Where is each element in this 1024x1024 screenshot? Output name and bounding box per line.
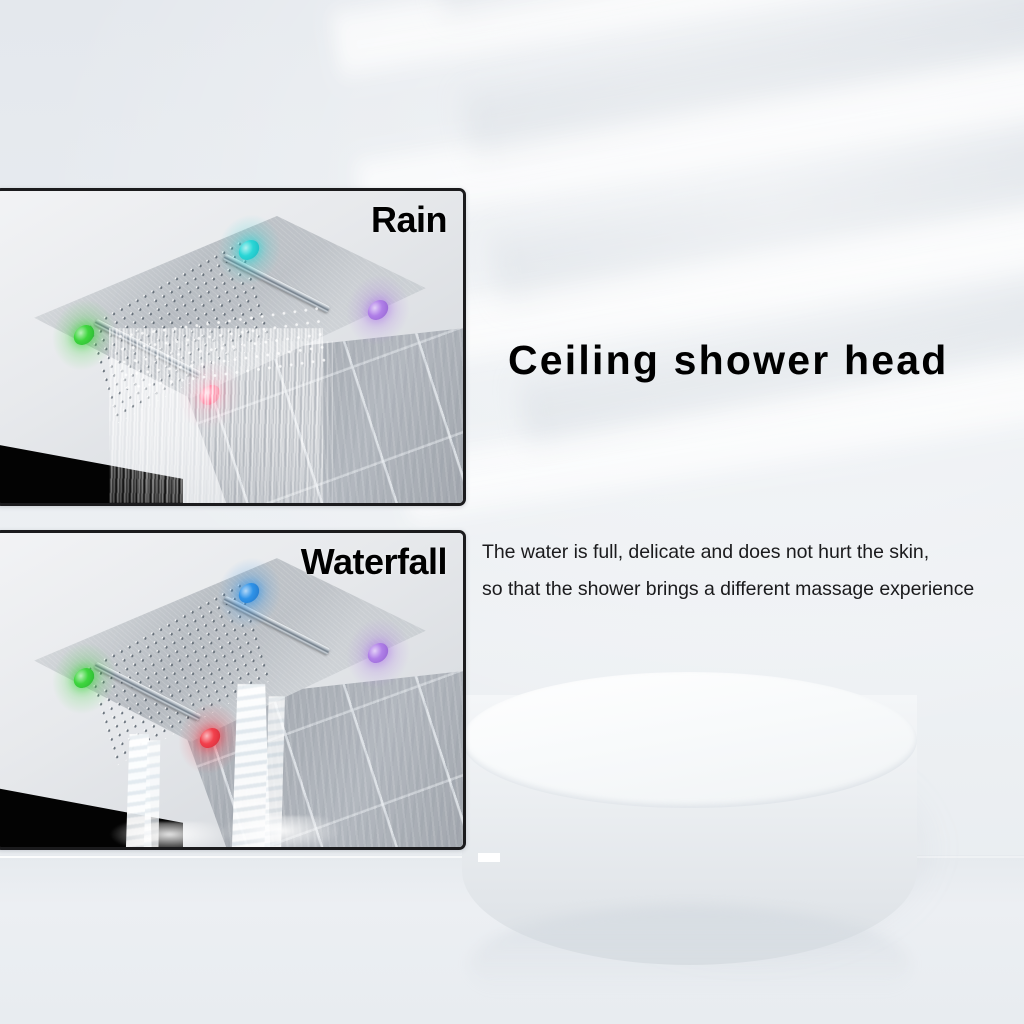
product-description: The water is full, delicate and does not… xyxy=(482,534,1022,608)
led-green-icon xyxy=(72,664,98,691)
led-purple-icon xyxy=(365,639,391,666)
led-red-icon xyxy=(197,724,223,751)
waterfall-splash-glow-right xyxy=(221,816,342,847)
panel-label-waterfall: Waterfall xyxy=(301,543,447,581)
waterfall-splash-glow xyxy=(109,822,230,847)
rain-water-curtain-secondary xyxy=(137,341,333,503)
white-accent-chip xyxy=(478,853,500,862)
product-image-canvas: Rain xyxy=(0,0,1024,1024)
panel-waterfall[interactable]: Waterfall xyxy=(0,530,466,850)
shower-head-assembly xyxy=(34,558,425,772)
panel-label-rain: Rain xyxy=(371,201,447,239)
led-blue-icon xyxy=(236,579,262,606)
description-line-1: The water is full, delicate and does not… xyxy=(482,534,1022,571)
led-green-icon xyxy=(72,322,98,349)
podium-reflection xyxy=(470,905,910,1024)
panel-rain[interactable]: Rain xyxy=(0,188,466,506)
description-line-2: so that the shower brings a different ma… xyxy=(482,571,1022,608)
podium-top-edge xyxy=(462,672,917,808)
led-cyan-icon xyxy=(236,237,262,264)
page-title: Ceiling shower head xyxy=(508,337,949,384)
led-purple-icon xyxy=(365,296,391,323)
